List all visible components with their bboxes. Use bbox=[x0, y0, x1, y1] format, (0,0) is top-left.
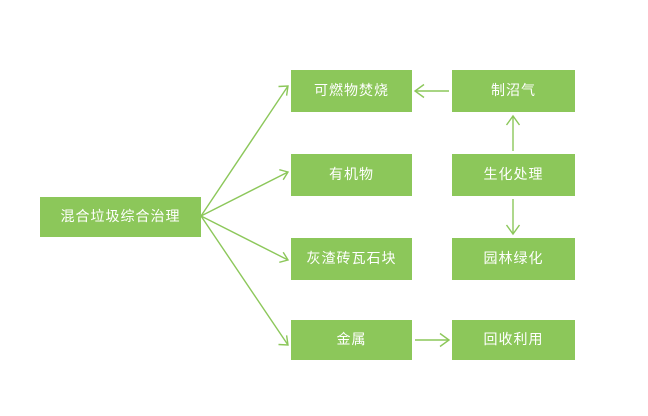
node-ash-brick-tile-stone[interactable]: 灰渣砖瓦石块 bbox=[291, 238, 412, 280]
edge-biogas-to-combustible bbox=[415, 85, 449, 98]
edge-mixed-to-combustible bbox=[201, 86, 288, 216]
node-label: 制沼气 bbox=[491, 84, 536, 98]
edge-mixed-to-organic bbox=[201, 170, 288, 216]
edge-biochemical-to-biogas bbox=[507, 116, 520, 151]
edge-biochemical-to-landscaping bbox=[507, 199, 520, 234]
node-label: 混合垃圾综合治理 bbox=[61, 210, 181, 224]
node-biogas-production[interactable]: 制沼气 bbox=[452, 70, 575, 112]
node-landscaping[interactable]: 园林绿化 bbox=[452, 238, 575, 280]
node-mixed-waste[interactable]: 混合垃圾综合治理 bbox=[40, 197, 201, 237]
node-label: 生化处理 bbox=[484, 168, 544, 182]
edge-group bbox=[201, 85, 520, 347]
node-label: 有机物 bbox=[329, 168, 374, 182]
edge-metal-to-recycling bbox=[415, 334, 449, 347]
node-label: 可燃物焚烧 bbox=[314, 84, 389, 98]
node-label: 回收利用 bbox=[484, 333, 544, 347]
node-label: 园林绿化 bbox=[484, 252, 544, 266]
node-organic-matter[interactable]: 有机物 bbox=[291, 154, 412, 196]
node-metal[interactable]: 金属 bbox=[291, 320, 412, 360]
node-combustible-incineration[interactable]: 可燃物焚烧 bbox=[291, 70, 412, 112]
edge-mixed-to-metal bbox=[201, 216, 288, 345]
node-label: 金属 bbox=[337, 333, 367, 347]
node-biochemical-treatment[interactable]: 生化处理 bbox=[452, 154, 575, 196]
node-recycling-reuse[interactable]: 回收利用 bbox=[452, 320, 575, 360]
node-label: 灰渣砖瓦石块 bbox=[307, 252, 397, 266]
edge-mixed-to-ash bbox=[201, 216, 288, 262]
diagram-canvas: 混合垃圾综合治理 可燃物焚烧 有机物 灰渣砖瓦石块 金属 制沼气 生化处理 园林… bbox=[0, 0, 648, 416]
